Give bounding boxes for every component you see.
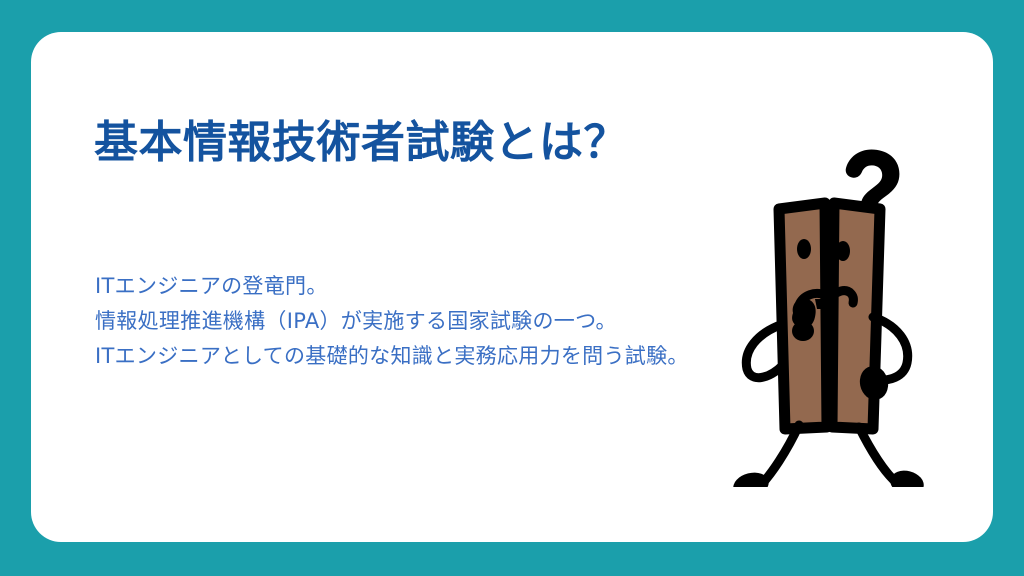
body-line-1: ITエンジニアの登竜門。 bbox=[95, 269, 795, 304]
slide-card: 基本情報技術者試験とは？ ITエンジニアの登竜門。 情報処理推進機構（IPA）が… bbox=[31, 32, 993, 542]
body-line-3: ITエンジニアとしての基礎的な知識と実務応用力を問う試験。 bbox=[95, 339, 795, 374]
body-line-2: 情報処理推進機構（IPA）が実施する国家試験の一つ。 bbox=[95, 304, 795, 339]
right-leg bbox=[859, 427, 926, 487]
page-title: 基本情報技術者試験とは？ bbox=[94, 119, 628, 167]
slide-root: 基本情報技術者試験とは？ ITエンジニアの登竜門。 情報処理推進機構（IPA）が… bbox=[0, 0, 1024, 576]
thinking-plank-character-illustration bbox=[721, 127, 971, 487]
left-eye bbox=[797, 239, 811, 259]
body-text-block: ITエンジニアの登竜門。 情報処理推進機構（IPA）が実施する国家試験の一つ。 … bbox=[95, 269, 795, 374]
right-eye bbox=[836, 241, 850, 261]
